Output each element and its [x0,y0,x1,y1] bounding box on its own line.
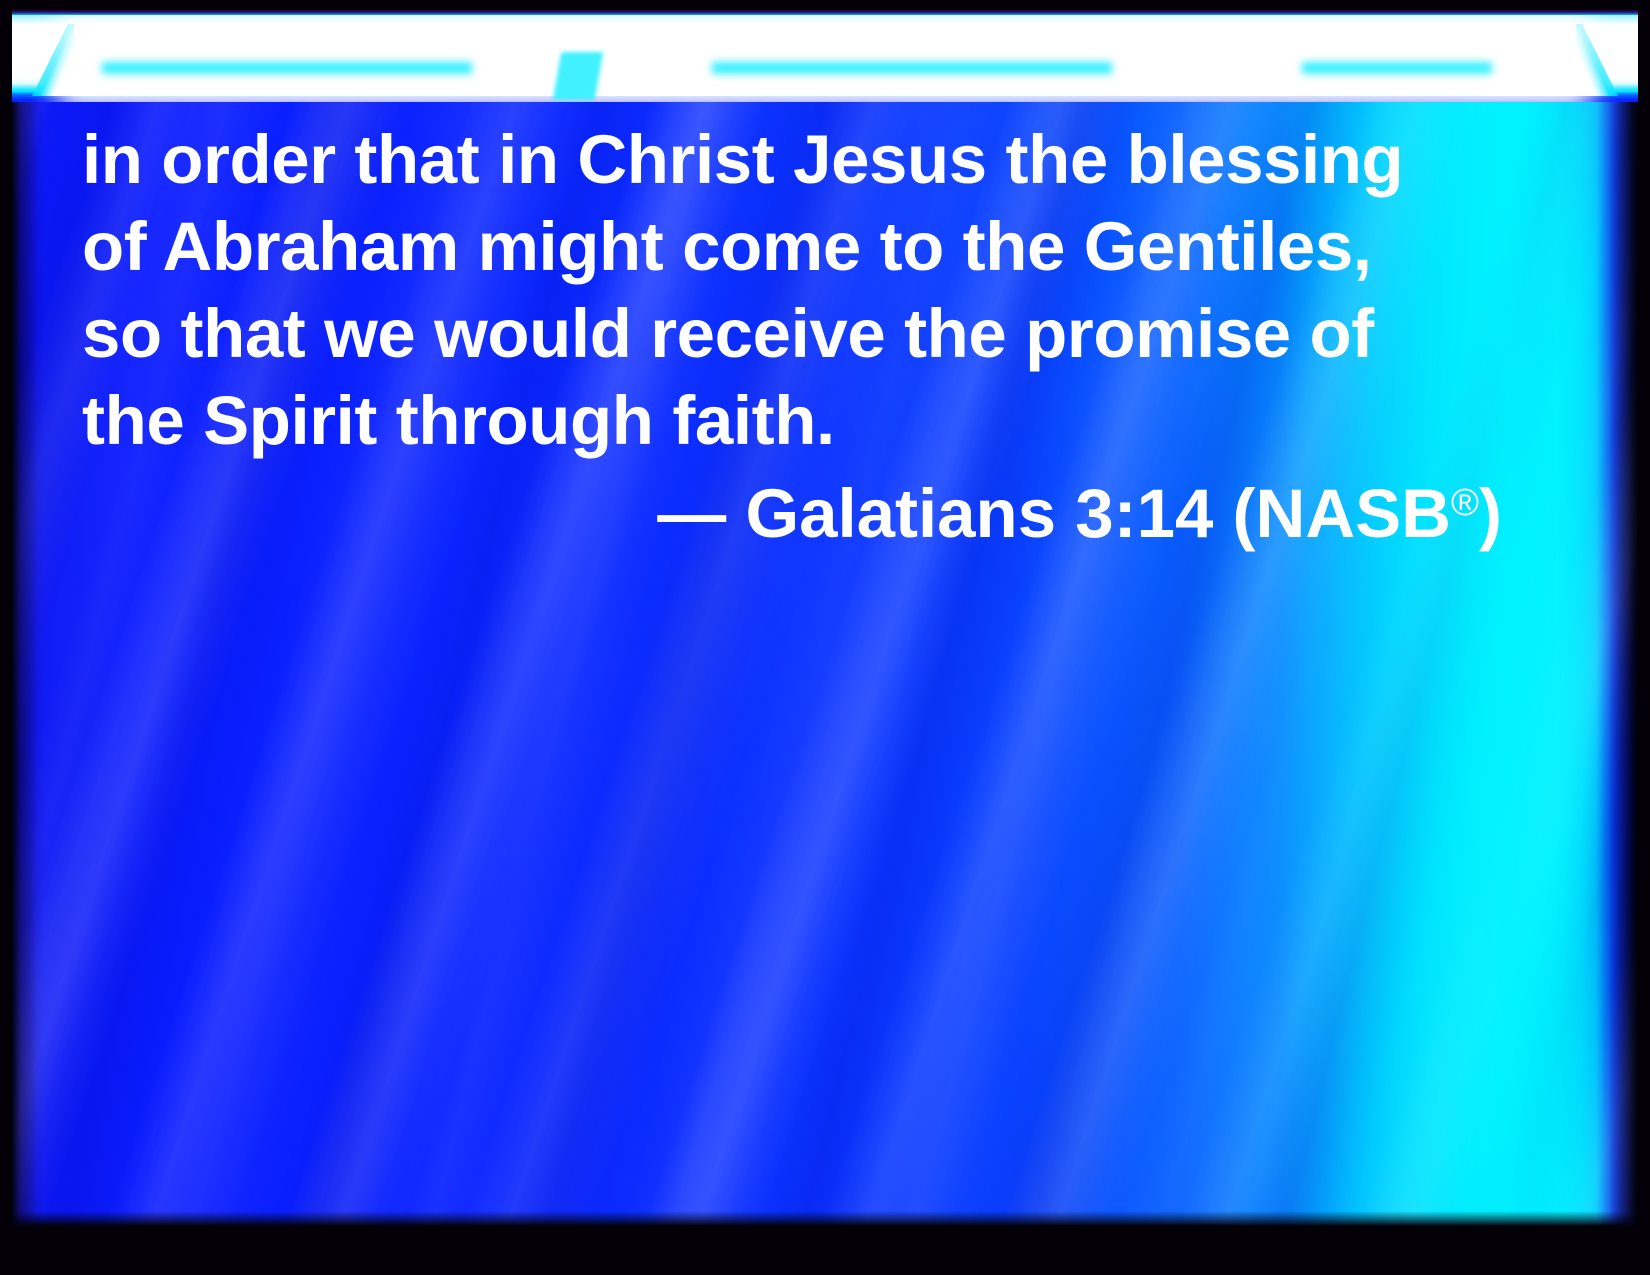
verse-line-2: of Abraham might come to the Gentiles, [82,203,1522,290]
verse-line-3: so that we would receive the promise of [82,290,1522,377]
top-bar-cyan-streak [102,62,472,74]
verse-line-1: in order that in Christ Jesus the blessi… [82,116,1522,203]
verse-line-4: the Spirit through faith. [82,377,1522,464]
top-bar-cyan-streak [712,62,1112,74]
registered-trademark-icon: ® [1451,482,1479,524]
top-bar-center-notch [553,52,603,100]
attribution-em-dash: — [657,475,726,552]
top-light-bar [12,10,1638,102]
verse-text-block: in order that in Christ Jesus the blessi… [82,116,1522,464]
top-bar-hairline [12,10,1638,15]
top-light-bar-plate [74,24,1576,96]
attribution-reference: Galatians 3:14 [745,475,1213,552]
attribution-close-paren: ) [1479,475,1502,552]
top-bar-cyan-streak [1302,62,1492,74]
attribution-open-paren: ( [1233,475,1256,552]
verse-slide: in order that in Christ Jesus the blessi… [0,0,1650,1275]
verse-attribution: — Galatians 3:14 (NASB®) [82,463,1502,554]
attribution-translation: NASB [1256,475,1452,552]
